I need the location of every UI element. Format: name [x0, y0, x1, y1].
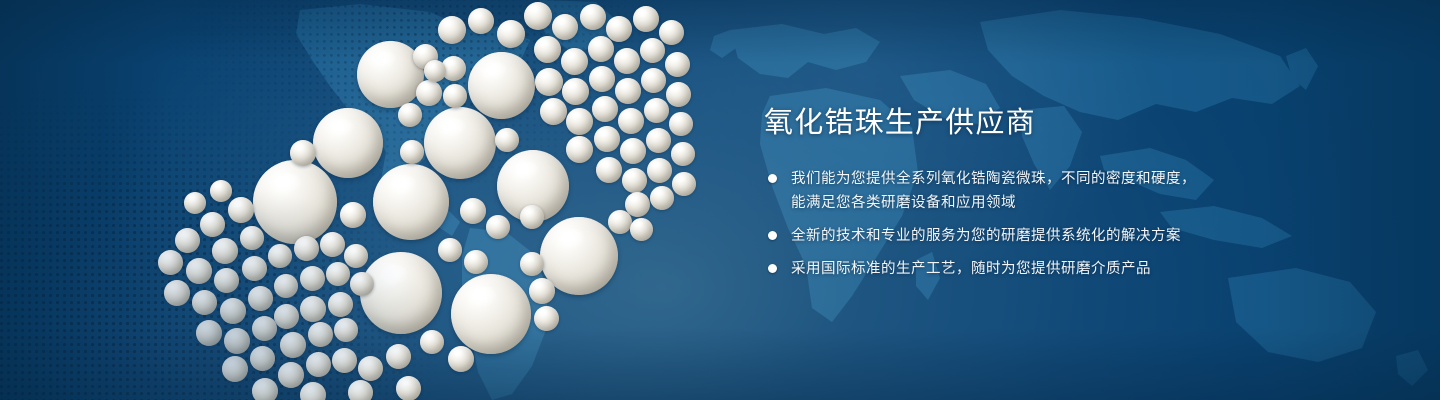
- list-item-line-1: 采用国际标准的生产工艺，随时为您提供研磨介质产品: [791, 261, 1151, 277]
- list-item-line-1: 全新的技术和专业的服务为您的研磨提供系统化的解决方案: [791, 228, 1181, 244]
- list-item: 我们能为您提供全系列氧化锆陶瓷微珠，不同的密度和硬度， 能满足您各类研磨设备和应…: [764, 167, 1234, 215]
- list-item-text: 全新的技术和专业的服务为您的研磨提供系统化的解决方案: [791, 224, 1234, 248]
- list-item-text: 采用国际标准的生产工艺，随时为您提供研磨介质产品: [791, 257, 1234, 281]
- bullet-dot-icon: [768, 174, 777, 183]
- page-title: 氧化锆珠生产供应商: [764, 104, 1234, 143]
- bullet-dot-icon: [768, 264, 777, 273]
- list-item-line-2: 能满足您各类研磨设备和应用领域: [791, 191, 1234, 215]
- banner-content: 氧化锆珠生产供应商 我们能为您提供全系列氧化锆陶瓷微珠，不同的密度和硬度， 能满…: [764, 104, 1234, 281]
- list-item: 采用国际标准的生产工艺，随时为您提供研磨介质产品: [764, 257, 1234, 281]
- list-item-text: 我们能为您提供全系列氧化锆陶瓷微珠，不同的密度和硬度， 能满足您各类研磨设备和应…: [791, 167, 1234, 215]
- bullet-dot-icon: [768, 231, 777, 240]
- feature-list: 我们能为您提供全系列氧化锆陶瓷微珠，不同的密度和硬度， 能满足您各类研磨设备和应…: [764, 167, 1234, 281]
- list-item-line-1: 我们能为您提供全系列氧化锆陶瓷微珠，不同的密度和硬度，: [791, 171, 1196, 187]
- list-item: 全新的技术和专业的服务为您的研磨提供系统化的解决方案: [764, 224, 1234, 248]
- hero-banner: 氧化锆珠生产供应商 我们能为您提供全系列氧化锆陶瓷微珠，不同的密度和硬度， 能满…: [0, 0, 1440, 400]
- zirconia-beads-photo: [0, 0, 740, 400]
